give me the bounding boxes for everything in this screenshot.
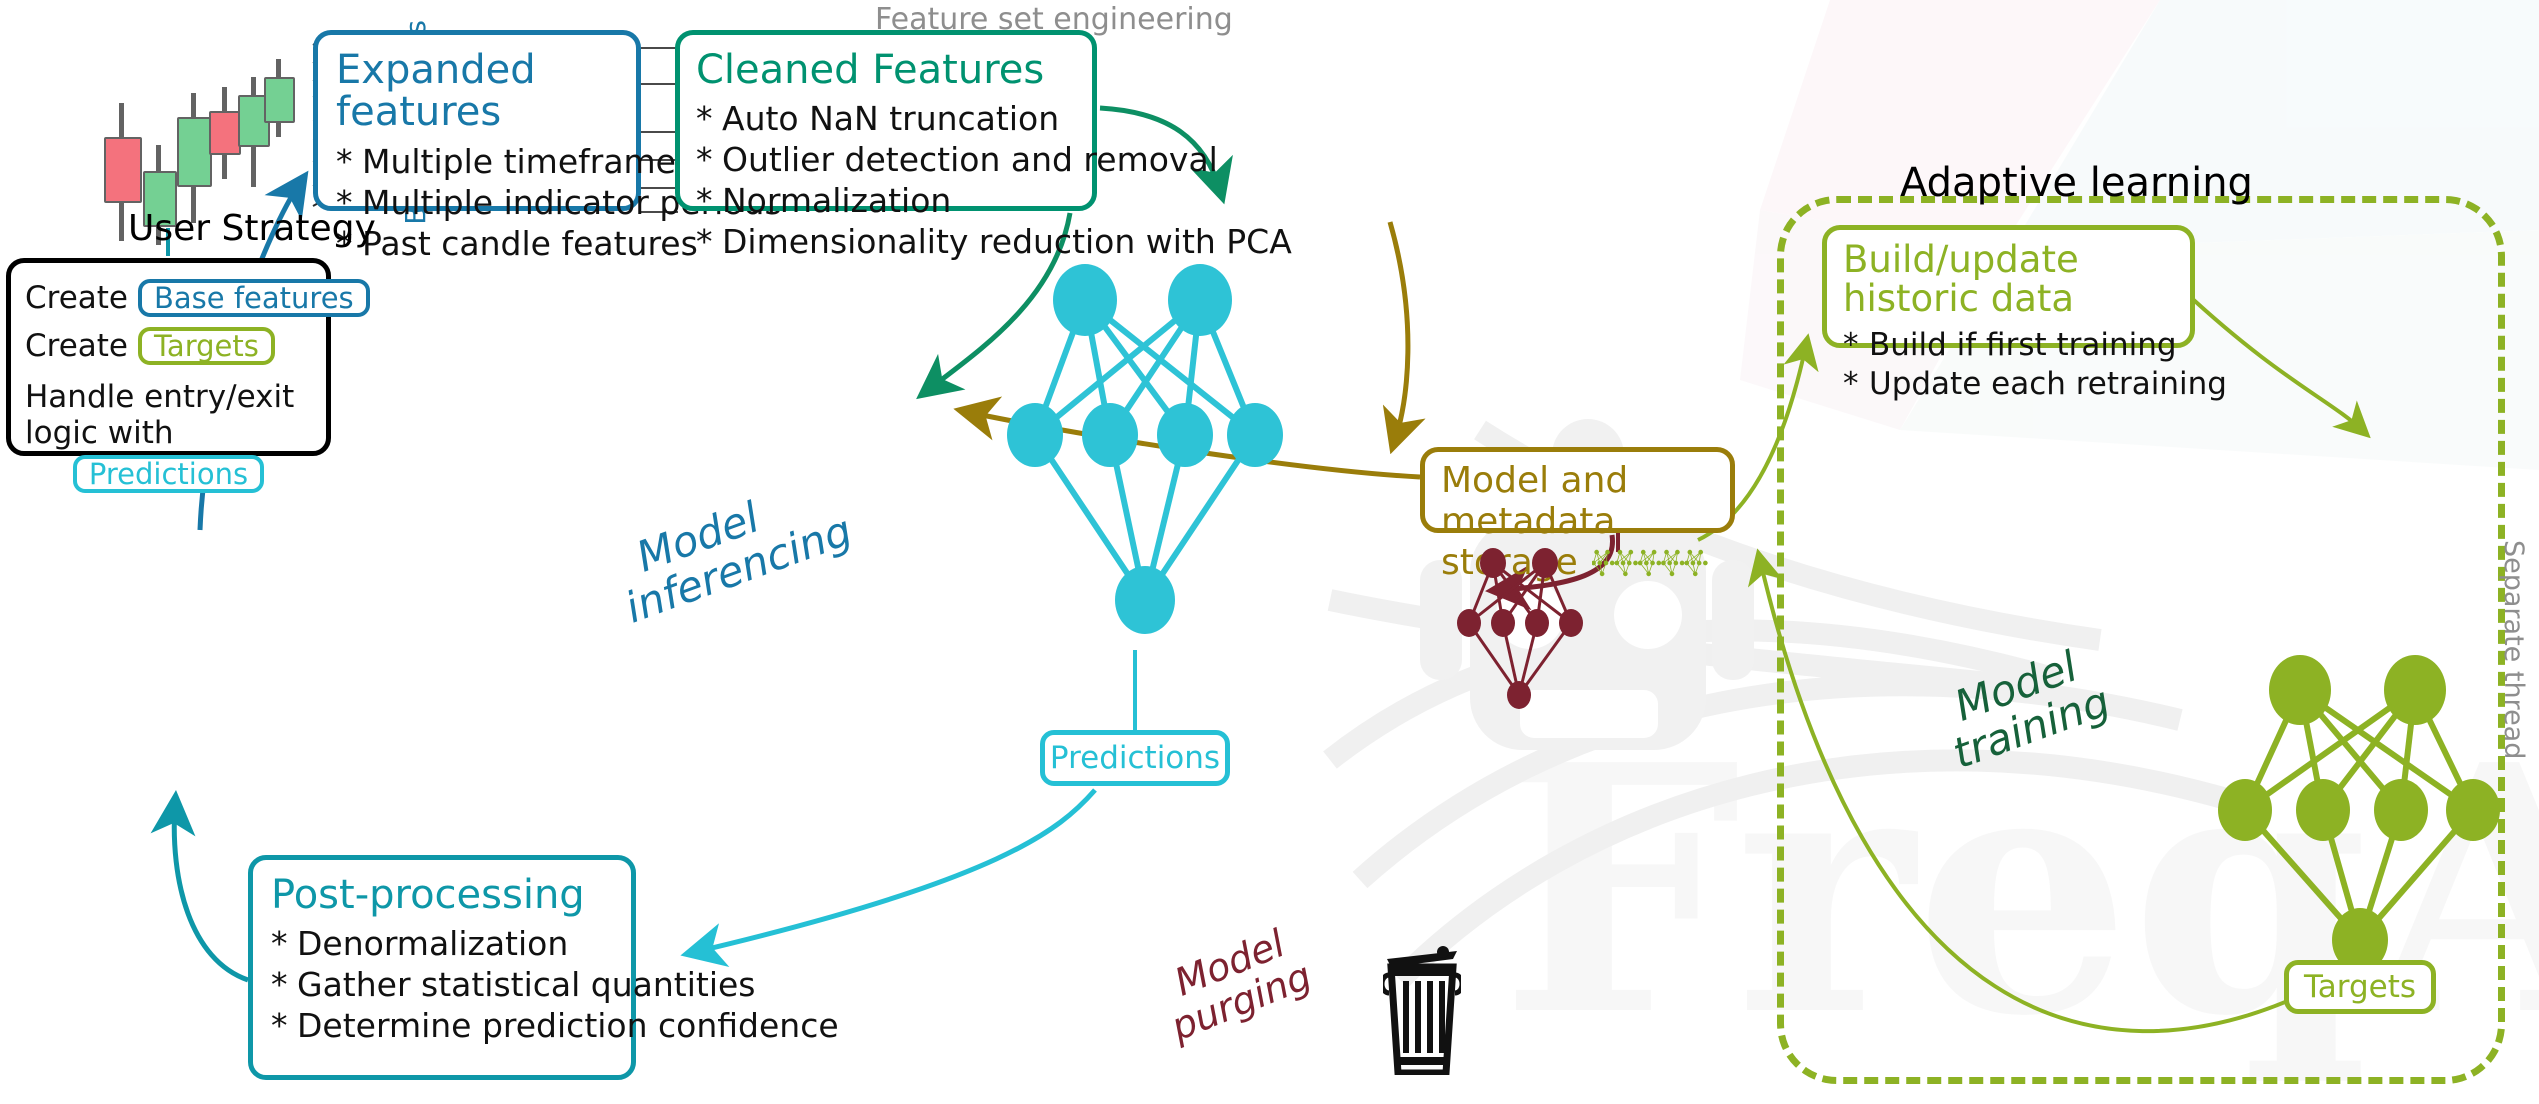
targets-tag-label: Targets [2304, 969, 2416, 1005]
list-item-label: Dimensionality reduction with PCA [722, 222, 1292, 261]
list-item: *Build if first training [1843, 326, 2174, 364]
list-item-label: Build if first training [1869, 327, 2177, 363]
purged-model-network [1455, 545, 1585, 730]
bullet-marker: * [1843, 365, 1869, 403]
training-neural-network [2215, 655, 2505, 985]
list-item-label: Denormalization [297, 924, 568, 963]
list-item: *Update each retraining [1843, 365, 2174, 403]
list-item-label: Multiple timeframes [362, 142, 693, 181]
cleaned-features-list: *Auto NaN truncation *Outlier detection … [696, 99, 1076, 263]
bullet-marker: * [696, 99, 722, 140]
expanded-features-title: Expanded features [336, 49, 618, 134]
diagram-canvas: FreqAI [0, 0, 2539, 1104]
bullet-marker: * [696, 222, 722, 263]
user-strategy-row: Create Base features [11, 279, 326, 317]
list-item: *Auto NaN truncation [696, 99, 1076, 140]
list-item-label: Update each retraining [1869, 366, 2227, 402]
model-purging-label: Model purging [1170, 919, 1317, 1040]
bullet-marker: * [336, 142, 362, 183]
bullet-marker: * [271, 1006, 297, 1047]
list-item: *Multiple timeframes [336, 142, 618, 183]
model-metadata-storage-box[interactable]: Model and metadata storage [1420, 447, 1735, 533]
candle-body-down [209, 111, 241, 155]
list-item: *Multiple indicator periods [336, 183, 618, 224]
predictions-tag[interactable]: Predictions [1040, 730, 1230, 786]
cleaned-features-box[interactable]: Cleaned Features *Auto NaN truncation *O… [675, 30, 1097, 211]
model-inferencing-label: Model inferencing [631, 467, 857, 621]
predictions-tag-label: Predictions [1050, 740, 1220, 776]
create-label-1: Create [25, 280, 128, 316]
build-update-title: Build/update historic data [1843, 240, 2174, 318]
targets-chip[interactable]: Targets [138, 327, 275, 365]
base-features-chip[interactable]: Base features [138, 279, 370, 317]
list-item: *Outlier detection and removal [696, 140, 1076, 181]
candle-body-up [264, 77, 295, 123]
list-item-label: Determine prediction confidence [297, 1006, 839, 1045]
user-strategy-row: Predictions [11, 455, 326, 493]
bullet-marker: * [696, 181, 722, 222]
bullet-marker: * [1843, 326, 1869, 364]
post-processing-list: *Denormalization *Gather statistical qua… [271, 924, 613, 1047]
list-item: *Determine prediction confidence [271, 1006, 613, 1047]
cleaned-features-title: Cleaned Features [696, 49, 1076, 91]
stored-models-icon [1592, 543, 1716, 583]
list-item: *Normalization [696, 181, 1076, 222]
separate-thread-label: Separate thread [2498, 540, 2529, 759]
bullet-marker: * [696, 140, 722, 181]
list-item-label: Outlier detection and removal [722, 140, 1218, 179]
bullet-marker: * [271, 924, 297, 965]
adaptive-learning-label: Adaptive learning [1900, 160, 2253, 206]
targets-tag[interactable]: Targets [2284, 960, 2436, 1014]
post-processing-title: Post-processing [271, 874, 613, 916]
predictions-chip[interactable]: Predictions [73, 455, 264, 493]
post-processing-box[interactable]: Post-processing *Denormalization *Gather… [248, 855, 636, 1080]
user-strategy-row: Handle entry/exit logic with [11, 379, 326, 451]
trash-can-icon [1383, 925, 1461, 1075]
expanded-features-list: *Multiple timeframes *Multiple indicator… [336, 142, 618, 265]
entry-exit-label: Handle entry/exit logic with [25, 379, 326, 451]
list-item: *Gather statistical quantities [271, 965, 613, 1006]
inference-neural-network [1005, 260, 1285, 680]
create-label-2: Create [25, 328, 128, 364]
feature-set-engineering-label: Feature set engineering [875, 2, 1233, 37]
candle-body-down [104, 137, 142, 203]
list-item-label: Normalization [722, 181, 951, 220]
list-item-label: Gather statistical quantities [297, 965, 756, 1004]
user-strategy-label: User Strategy [128, 208, 376, 249]
storage-line1: Model and metadata [1441, 460, 1716, 542]
bullet-marker: * [271, 965, 297, 1006]
build-update-historic-data-box[interactable]: Build/update historic data *Build if fir… [1822, 225, 2195, 348]
list-item-label: Past candle features [362, 224, 698, 263]
user-strategy-row: Create Targets [11, 327, 326, 365]
candle-body-up [177, 117, 212, 187]
list-item-label: Auto NaN truncation [722, 99, 1059, 138]
build-update-list: *Build if first training *Update each re… [1843, 326, 2174, 403]
expanded-features-box[interactable]: Expanded features *Multiple timeframes *… [313, 30, 641, 211]
user-strategy-box[interactable]: Create Base features Create Targets Hand… [6, 258, 331, 456]
list-item: *Denormalization [271, 924, 613, 965]
list-item: *Past candle features [336, 224, 618, 265]
list-item: *Dimensionality reduction with PCA [696, 222, 1076, 263]
